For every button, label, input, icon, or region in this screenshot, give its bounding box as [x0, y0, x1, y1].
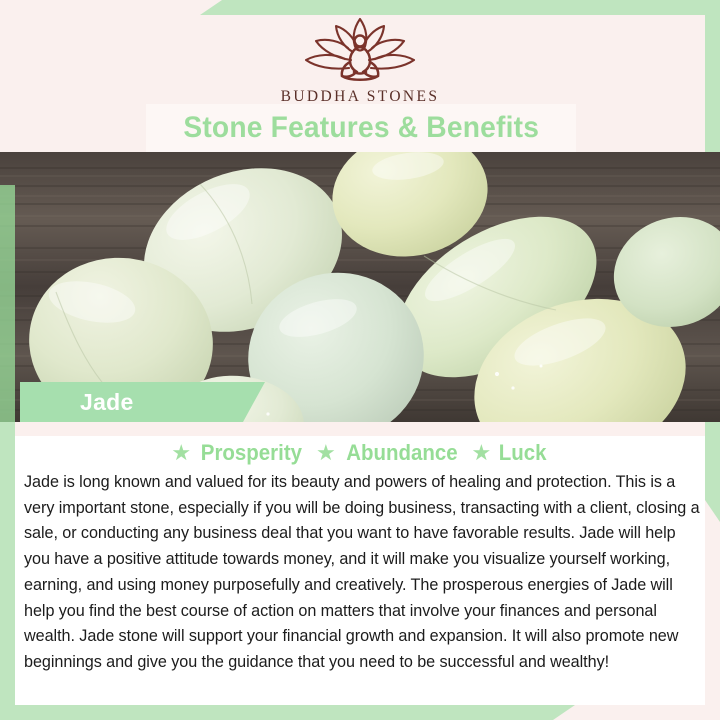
- stone-photo: [0, 152, 720, 422]
- frame-bottom-accent: [0, 705, 575, 720]
- page-title: Stone Features & Benefits: [183, 111, 539, 145]
- lotus-meditation-figure-icon: [301, 12, 419, 84]
- benefit-prosperity: ★ Prosperity: [171, 440, 306, 466]
- stone-description: Jade is long known and valued for its be…: [24, 470, 702, 676]
- benefit-label: Abundance: [346, 440, 457, 466]
- benefit-luck: ★ Luck: [472, 440, 549, 466]
- content-panel: ★ Prosperity ★ Abundance ★ Luck Jade is …: [15, 422, 705, 705]
- stone-name-banner: Jade: [20, 382, 265, 422]
- headline-banner: Stone Features & Benefits: [146, 104, 576, 152]
- content-top-strip: [15, 422, 705, 436]
- stone-info-card: BUDDHA STONES Stone Features & Benefits: [0, 0, 720, 720]
- benefit-abundance: ★ Abundance: [316, 440, 462, 466]
- benefit-label: Prosperity: [201, 440, 302, 466]
- benefits-row: ★ Prosperity ★ Abundance ★ Luck: [15, 438, 705, 468]
- star-icon: ★: [472, 442, 492, 464]
- photo-left-green-tint: [0, 185, 15, 422]
- stone-photo-illustration: [0, 152, 720, 422]
- frame-top-accent: [200, 0, 720, 15]
- stone-name: Jade: [80, 389, 134, 416]
- benefit-label: Luck: [499, 440, 547, 466]
- star-icon: ★: [316, 442, 336, 464]
- star-icon: ★: [171, 442, 191, 464]
